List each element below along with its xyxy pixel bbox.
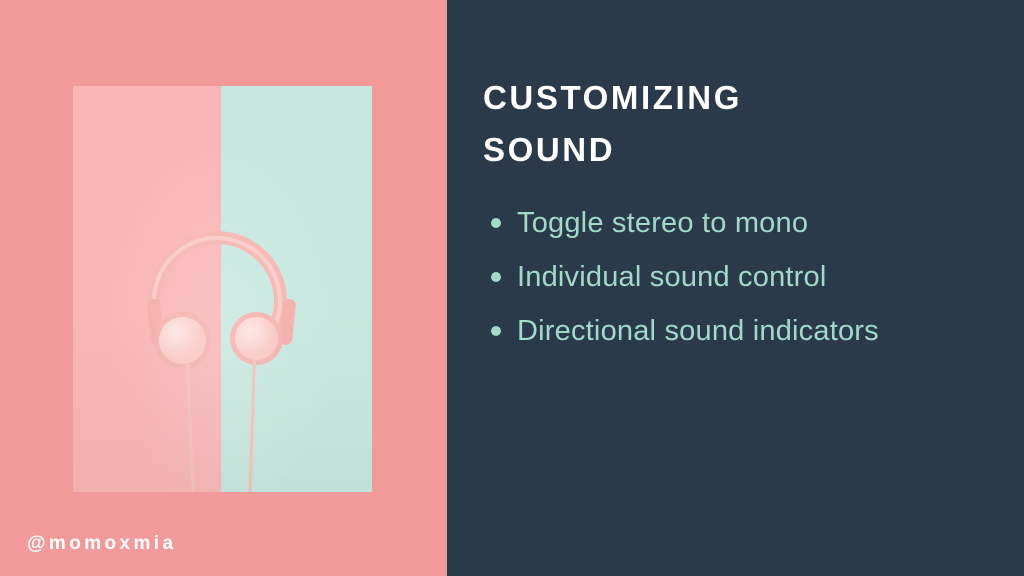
watermark-handle: @momoxmia bbox=[27, 534, 176, 553]
headphone-right-cable bbox=[248, 360, 256, 492]
headphone-left-earcup-gloss bbox=[159, 317, 206, 364]
slide-title: Customizing Sound bbox=[483, 72, 1003, 176]
headphones-illustration bbox=[73, 86, 372, 492]
headphones-photo bbox=[73, 86, 372, 492]
feature-list: Toggle stereo to mono Individual sound c… bbox=[488, 196, 1018, 358]
list-item-label: Individual sound control bbox=[517, 263, 827, 292]
bullet-dot-icon bbox=[491, 326, 501, 336]
bullet-dot-icon bbox=[491, 272, 501, 282]
right-content-panel: Customizing Sound Toggle stereo to mono … bbox=[447, 0, 1024, 576]
list-item: Individual sound control bbox=[488, 250, 1018, 304]
left-image-panel: @momoxmia bbox=[0, 0, 447, 576]
list-item-label: Directional sound indicators bbox=[517, 317, 879, 346]
headphone-left-cable bbox=[186, 364, 195, 492]
list-item-label: Toggle stereo to mono bbox=[517, 209, 808, 238]
list-item: Toggle stereo to mono bbox=[488, 196, 1018, 250]
list-item: Directional sound indicators bbox=[488, 304, 1018, 358]
headphone-right-earcup-gloss bbox=[235, 317, 278, 360]
bullet-dot-icon bbox=[491, 218, 501, 228]
slide-canvas: @momoxmia Customizing Sound Toggle stere… bbox=[0, 0, 1024, 576]
